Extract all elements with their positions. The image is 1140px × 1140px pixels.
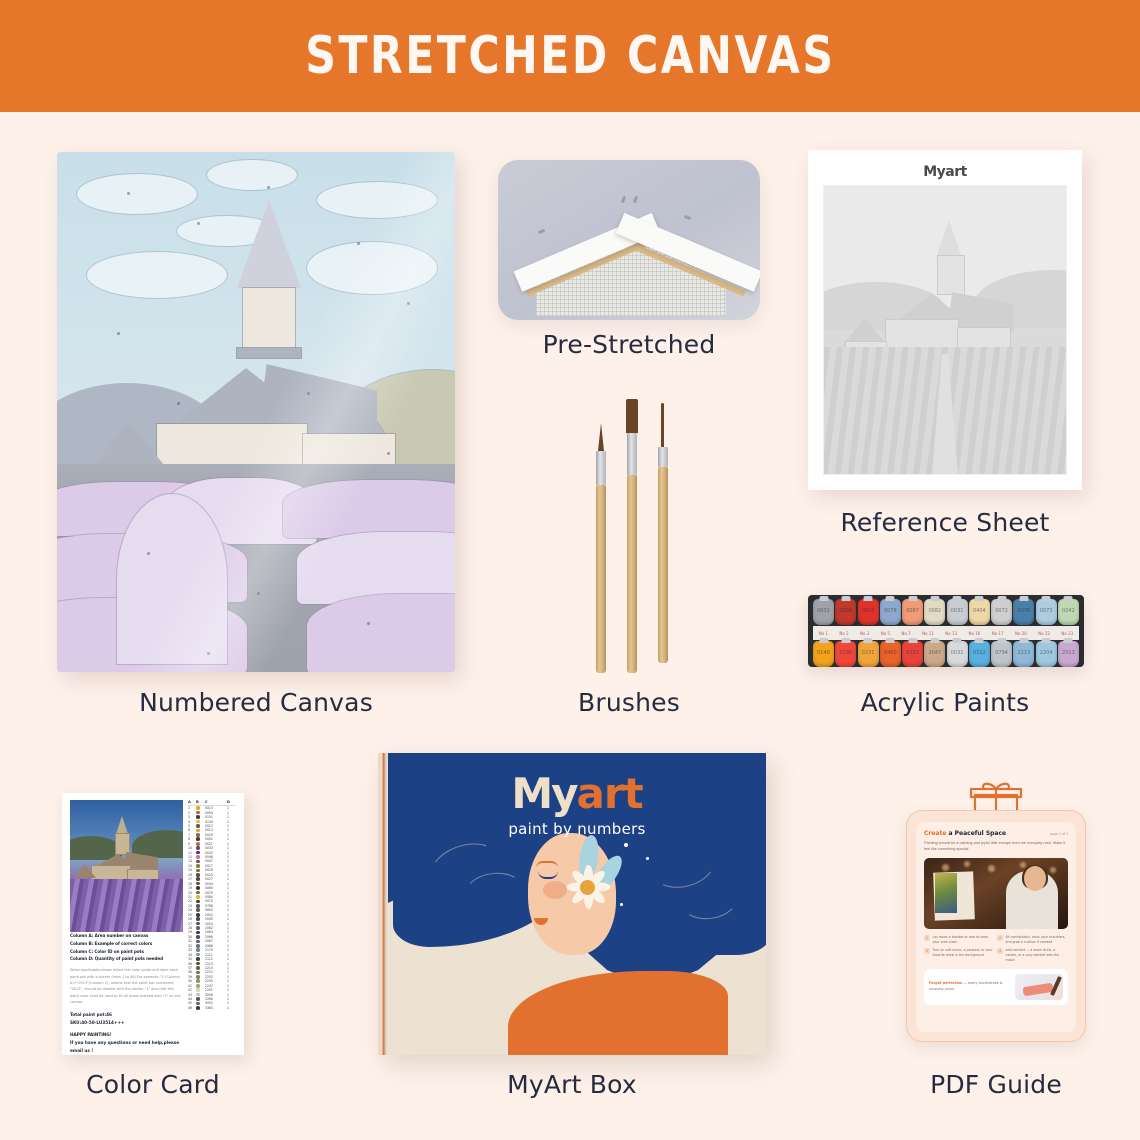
cell-area-number: 23: [188, 904, 196, 908]
brush-bristles: [626, 399, 638, 433]
help-email-text: If you have any questions or need help,p…: [70, 1039, 183, 1055]
cell-color-swatch: [196, 931, 205, 935]
pdf-photo: [924, 858, 1068, 929]
paint-pot-id: 2013: [1058, 650, 1079, 656]
cell-quantity: 1: [227, 930, 236, 934]
paint-pot-id: 0023: [858, 608, 879, 614]
cell-color-id: 3052: [205, 1001, 227, 1005]
paint-pot-id: 0460: [880, 650, 901, 656]
cell-area-number: 38: [188, 970, 196, 974]
reference-sheet-image: Myart: [808, 150, 1082, 490]
pdf-tip-item: 3Turn on soft music, a podcast, or your …: [924, 948, 994, 963]
paint-pot: 0034: [835, 599, 856, 625]
color-card-paragraph: When applicable,please follow this color…: [70, 967, 183, 1006]
cell-quantity: 1: [227, 913, 236, 917]
caption-color-card: Color Card: [40, 1070, 266, 1099]
total-paint-pots: Total paint pot:46: [70, 1011, 183, 1019]
box-spine-edge: [378, 753, 388, 1055]
cell-color-swatch: [196, 966, 205, 970]
cell-quantity: 1: [227, 962, 236, 966]
cell-quantity: 1: [227, 828, 236, 832]
color-card-legend: Column A: Area number on canvas Column B…: [70, 932, 183, 963]
paint-row-bottom: 0140019002310460015220470031031207942113…: [813, 641, 1079, 667]
myart-logo-text: Myart: [824, 164, 1066, 180]
cell-quantity: 1: [227, 846, 236, 850]
cell-color-id: 2062: [205, 926, 227, 930]
cell-color-swatch: [196, 806, 205, 810]
paint-pot-id: 0794: [991, 650, 1012, 656]
sparkle-dot-icon: [646, 857, 649, 860]
cell-quantity: 1: [227, 815, 236, 819]
cell-area-number: 3: [188, 815, 196, 819]
table-body: 1001312009413013114013415001216001317002…: [188, 806, 236, 1010]
paint-pot: 0076: [1013, 599, 1034, 625]
cell-color-swatch: [196, 935, 205, 939]
paint-pot: 0794: [991, 641, 1012, 667]
cell-color-swatch: [196, 962, 205, 966]
bell-tower: [243, 288, 295, 354]
cell-area-number: 33: [188, 948, 196, 952]
cell-quantity: 1: [227, 895, 236, 899]
cell-color-id: 0800: [205, 908, 227, 912]
cell-color-swatch: [196, 948, 205, 952]
daisy-flower-icon: [566, 865, 610, 909]
brush-ferrule: [596, 451, 606, 485]
cell-color-id: 2252: [205, 975, 227, 979]
color-card-image: Column A: Area number on canvas Column B…: [62, 793, 244, 1055]
cell-color-swatch: [196, 1002, 205, 1006]
cell-area-number: 20: [188, 891, 196, 895]
paint-pot: 0031: [947, 641, 968, 667]
cell-quantity: 1: [227, 939, 236, 943]
staple-icon: [633, 196, 638, 204]
cell-color-swatch: [196, 984, 205, 988]
paint-number-label: No 23: [1061, 631, 1073, 636]
pdf-note-card: Forget perfection — every brushstroke is…: [924, 969, 1068, 1005]
painting-on-easel: [935, 873, 957, 913]
page-title: STRETCHED CANVAS: [305, 26, 835, 86]
cell-quantity: 1: [227, 926, 236, 930]
cell-area-number: 25: [188, 913, 196, 917]
product-box: Myart paint by numbers: [378, 753, 766, 1055]
reference-grayscale-art: [824, 186, 1066, 474]
brush-handle: [658, 467, 668, 663]
cell-color-id: 0134: [205, 820, 227, 824]
cell-color-id: 2251: [205, 988, 227, 992]
cell-color-swatch: [196, 900, 205, 904]
cell-color-swatch: [196, 953, 205, 957]
lavender-row: [307, 594, 455, 672]
cell-color-swatch: [196, 944, 205, 948]
lavender-field: [57, 464, 455, 672]
caption-acrylic-paints: Acrylic Paints: [800, 688, 1090, 717]
happy-painting-text: HAPPY PAINTING!: [70, 1031, 183, 1039]
cell-color-id: 0033: [205, 846, 227, 850]
cell-area-number: 1: [188, 806, 196, 810]
cell-color-id: 2112: [205, 957, 227, 961]
paint-pot: 0231: [858, 641, 879, 667]
eyebrow-shape: [536, 861, 558, 868]
paint-pot-id: 2113: [1013, 650, 1034, 656]
cell-area-number: 32: [188, 944, 196, 948]
cell-quantity: 1: [227, 984, 236, 988]
cell-color-id: 0007: [205, 859, 227, 863]
cell-color-id: 0131: [205, 815, 227, 819]
cell-color-swatch: [196, 869, 205, 873]
cheek-blush: [543, 881, 567, 899]
cell-area-number: 12: [188, 855, 196, 859]
legend-line: Column B: Example of correct colors: [70, 940, 183, 948]
cell-color-swatch: [196, 1006, 205, 1010]
cell-quantity: 1: [227, 811, 236, 815]
cell-area-number: 36: [188, 962, 196, 966]
cell-color-id: 0021: [205, 842, 227, 846]
paint-pot: 0460: [880, 641, 901, 667]
paint-pot-id: 0140: [813, 650, 834, 656]
cloud-shape: [307, 242, 437, 294]
pre-stretched-image: [498, 160, 760, 320]
canvas-artwork: [57, 152, 455, 672]
cell-area-number: 43: [188, 993, 196, 997]
cloud-shape: [77, 174, 197, 214]
cell-color-id: 0017: [205, 864, 227, 868]
cell-color-id: 2113: [205, 962, 227, 966]
cell-area-number: 8: [188, 837, 196, 841]
cell-color-swatch: [196, 895, 205, 899]
cell-color-id: 0046: [205, 855, 227, 859]
tip-text: Sit comfortably, relax your shoulders, a…: [1006, 935, 1068, 945]
tip-number-icon: 2: [997, 935, 1003, 941]
paint-pot-id: 0078: [880, 608, 901, 614]
cell-color-swatch: [196, 860, 205, 864]
paint-pot-id: 2204: [1036, 650, 1057, 656]
cell-area-number: 24: [188, 908, 196, 912]
paint-pot: 0152: [902, 641, 923, 667]
paint-number-label: No 1: [819, 631, 828, 636]
legend-line: Column A: Area number on canvas: [70, 932, 183, 940]
paint-pot: 0242: [1058, 599, 1079, 625]
cc-lavender-field: [70, 879, 183, 932]
cell-color-swatch: [196, 837, 205, 841]
cc-tower: [116, 834, 129, 854]
pdf-tip-item: 2Sit comfortably, relax your shoulders, …: [997, 935, 1067, 945]
cell-area-number: 15: [188, 868, 196, 872]
cell-color-id: 2002: [205, 913, 227, 917]
cell-area-number: 37: [188, 966, 196, 970]
cell-area-number: 35: [188, 957, 196, 961]
brushes-image: [588, 385, 680, 673]
tray-label-text-top: No 1No 2No 3No 5No 7No 11No 13No 16No 17…: [813, 631, 1079, 636]
cell-color-swatch: [196, 877, 205, 881]
cell-color-id: 0060: [205, 886, 227, 890]
brush-round: [596, 385, 606, 673]
paint-pot: 0087: [902, 599, 923, 625]
cell-area-number: 21: [188, 895, 196, 899]
cell-color-id: 2045: [205, 917, 227, 921]
cell-quantity: 1: [227, 957, 236, 961]
cell-color-swatch: [196, 873, 205, 877]
tip-text: Add comfort — a warm drink, a candle, or…: [1006, 948, 1068, 963]
paint-pot-id: 0032: [813, 608, 834, 614]
paint-number-label: No 5: [881, 631, 890, 636]
lavender-row: [117, 494, 227, 664]
cell-quantity: 1: [227, 851, 236, 855]
paint-number-label: No 16: [969, 631, 981, 636]
paint-pot: 0023: [858, 599, 879, 625]
cell-color-id: 0013: [205, 828, 227, 832]
col-header-a: A: [188, 800, 196, 804]
brush-ferrule: [627, 433, 637, 475]
cell-color-swatch: [196, 904, 205, 908]
paint-pot: 0404: [969, 599, 990, 625]
paint-pot: 0032: [813, 599, 834, 625]
paint-pot: 2047: [924, 641, 945, 667]
cell-area-number: 31: [188, 939, 196, 943]
brush-handle: [627, 475, 637, 673]
pre-stretched-photo: [498, 160, 760, 320]
cell-area-number: 6: [188, 828, 196, 832]
paint-number-label: No 2: [839, 631, 848, 636]
cell-color-swatch: [196, 908, 205, 912]
cell-color-id: 0001: [205, 837, 227, 841]
person-head: [1024, 866, 1046, 891]
sparkle-dot-icon: [620, 903, 623, 906]
cell-color-swatch: [196, 882, 205, 886]
cell-area-number: 29: [188, 930, 196, 934]
paint-pot-id: 0082: [924, 608, 945, 614]
col-header-b: B: [196, 800, 205, 804]
cell-color-id: 0075: [205, 891, 227, 895]
pdf-title-row: Create a Peaceful Space page 1 of 1: [924, 830, 1068, 837]
pdf-note-accent: Forget perfection: [929, 981, 962, 985]
cell-quantity: 1: [227, 1006, 236, 1010]
cell-color-swatch: [196, 993, 205, 997]
color-card-left-column: Column A: Area number on canvas Column B…: [70, 800, 183, 1048]
cell-color-id: 0788: [205, 904, 227, 908]
pdf-page-inner: Create a Peaceful Space page 1 of 1 Pain…: [916, 822, 1076, 1032]
cell-area-number: 17: [188, 877, 196, 881]
paint-pot: 2204: [1036, 641, 1057, 667]
cell-quantity: 1: [227, 988, 236, 992]
cell-color-id: 0094: [205, 811, 227, 815]
cell-quantity: 1: [227, 891, 236, 895]
paint-pot-id: 0231: [858, 650, 879, 656]
paint-number-label: No 7: [901, 631, 910, 636]
cell-color-id: 3363: [205, 1006, 227, 1010]
paint-pot-id: 0190: [835, 650, 856, 656]
cell-quantity: 1: [227, 886, 236, 890]
cell-color-swatch: [196, 833, 205, 837]
cell-quantity: 1: [227, 908, 236, 912]
cell-color-swatch: [196, 975, 205, 979]
pdf-title-accent: Create: [924, 830, 946, 837]
grayscale-tower: [938, 256, 964, 294]
brush-flat: [627, 385, 637, 673]
cell-quantity: 1: [227, 868, 236, 872]
cell-color-id: 0029: [205, 833, 227, 837]
cell-color-id: 0018: [205, 868, 227, 872]
cell-color-id: 3006: [205, 993, 227, 997]
paint-row-top: 0032003400230078008700820031040400720076…: [813, 599, 1079, 625]
cell-color-id: 2247: [205, 984, 227, 988]
pdf-guide-image: Create a Peaceful Space page 1 of 1 Pain…: [906, 810, 1086, 1042]
myart-box-image: Myart paint by numbers: [378, 753, 766, 1055]
paint-pot-id: 0312: [969, 650, 990, 656]
brushstroke-thumbnail: [1015, 974, 1063, 1000]
cell-area-number: 26: [188, 917, 196, 921]
cell-color-id: 2215: [205, 966, 227, 970]
logo-art-text: art: [577, 769, 643, 818]
staple-icon: [684, 215, 692, 220]
cell-quantity: 1: [227, 970, 236, 974]
cell-quantity: 1: [227, 966, 236, 970]
paint-pot: 0082: [924, 599, 945, 625]
cell-color-swatch: [196, 971, 205, 975]
cell-quantity: 1: [227, 855, 236, 859]
paint-pot-id: 2047: [924, 650, 945, 656]
cell-area-number: 13: [188, 859, 196, 863]
cell-color-id: 0044: [205, 882, 227, 886]
cell-color-swatch: [196, 864, 205, 868]
cell-color-swatch: [196, 811, 205, 815]
cell-area-number: 9: [188, 842, 196, 846]
cell-color-id: 2255: [205, 979, 227, 983]
numbered-canvas-image: [57, 152, 455, 672]
tip-number-icon: 1: [924, 935, 930, 941]
cell-quantity: 1: [227, 904, 236, 908]
brush-handle: [596, 485, 606, 673]
cell-quantity: 1: [227, 873, 236, 877]
cloud-shape: [317, 182, 437, 218]
brush-bristles: [598, 423, 604, 451]
cell-color-id: 2054: [205, 922, 227, 926]
cell-color-swatch: [196, 988, 205, 992]
paint-pot: 2013: [1058, 641, 1079, 667]
cell-color-swatch: [196, 829, 205, 833]
pdf-guide-card: Create a Peaceful Space page 1 of 1 Pain…: [906, 810, 1086, 1042]
cell-quantity: 1: [227, 864, 236, 868]
cell-quantity: 1: [227, 824, 236, 828]
lavender-row: [283, 480, 455, 538]
cell-color-id: 0025: [205, 873, 227, 877]
pdf-subtitle: Painting should be a calming and joyful …: [924, 840, 1068, 853]
paint-tray: 0032003400230078008700820031040400720076…: [808, 595, 1084, 667]
cloud-shape: [207, 160, 297, 190]
cell-color-id: 2066: [205, 935, 227, 939]
paint-pot: 0072: [991, 599, 1012, 625]
tip-text: Lay down a blanket or mat to keep your a…: [933, 935, 995, 945]
cell-color-swatch: [196, 815, 205, 819]
cell-area-number: 11: [188, 851, 196, 855]
cell-area-number: 45: [188, 1001, 196, 1005]
tower-cornice: [237, 348, 301, 358]
color-card-paper: Column A: Area number on canvas Column B…: [62, 793, 244, 1055]
paint-number-label: No 17: [992, 631, 1004, 636]
sparkle-dot-icon: [624, 843, 628, 847]
cell-quantity: 1: [227, 820, 236, 824]
brush-ferrule: [658, 447, 668, 467]
paint-pot: 0140: [813, 641, 834, 667]
tip-number-icon: 3: [924, 948, 930, 954]
cell-color-id: 2170: [205, 948, 227, 952]
caption-brushes: Brushes: [470, 688, 788, 717]
paint-pot-id: 0031: [947, 608, 968, 614]
pdf-tips-list: 1Lay down a blanket or mat to keep your …: [924, 935, 1068, 963]
color-card-artwork: [70, 800, 183, 932]
legend-line: Column D: Quantity of paint pots needed: [70, 955, 183, 963]
color-card-row: 4633631: [188, 1006, 236, 1010]
cell-quantity: 1: [227, 993, 236, 997]
acrylic-paints-image: 0032003400230078008700820031040400720076…: [808, 595, 1084, 667]
cell-area-number: 28: [188, 926, 196, 930]
cell-color-id: 2212: [205, 970, 227, 974]
cell-color-swatch: [196, 922, 205, 926]
cell-quantity: 1: [227, 917, 236, 921]
cell-quantity: 1: [227, 935, 236, 939]
cell-area-number: 16: [188, 873, 196, 877]
paint-pot: 0312: [969, 641, 990, 667]
cell-color-id: 0032: [205, 851, 227, 855]
cell-color-swatch: [196, 891, 205, 895]
cell-quantity: 1: [227, 944, 236, 948]
cell-area-number: 39: [188, 975, 196, 979]
cell-color-swatch: [196, 926, 205, 930]
cell-color-id: 0084: [205, 895, 227, 899]
box-subtitle: paint by numbers: [388, 820, 766, 838]
page-header: STRETCHED CANVAS: [0, 0, 1140, 112]
paint-pot: 0190: [835, 641, 856, 667]
cell-area-number: 44: [188, 997, 196, 1001]
cell-color-swatch: [196, 855, 205, 859]
cell-color-swatch: [196, 997, 205, 1001]
cloud-shape: [87, 252, 227, 298]
paint-pot: 0031: [947, 599, 968, 625]
cell-area-number: 40: [188, 979, 196, 983]
staple-icon: [621, 196, 626, 204]
tray-label-strip: No 1No 2No 3No 5No 7No 11No 13No 16No 17…: [813, 626, 1079, 640]
cell-color-id: 2063: [205, 930, 227, 934]
paint-pot-id: 0404: [969, 608, 990, 614]
paint-number-label: No 11: [922, 631, 934, 636]
cell-quantity: 1: [227, 833, 236, 837]
col-header-d: D: [227, 800, 236, 804]
box-front-face: Myart paint by numbers: [388, 753, 766, 1055]
cell-color-id: 0075: [205, 899, 227, 903]
paint-pot: 0073: [1036, 599, 1057, 625]
paint-pot-id: 0031: [947, 650, 968, 656]
pdf-page-marker: page 1 of 1: [1050, 832, 1068, 836]
legend-line: Column C: Color ID on paint pots: [70, 948, 183, 956]
cell-color-swatch: [196, 820, 205, 824]
paint-pot-id: 0076: [1013, 608, 1034, 614]
cell-area-number: 46: [188, 1006, 196, 1010]
paint-pot: 0078: [880, 599, 901, 625]
pdf-note-text: Forget perfection — every brushstroke is…: [929, 981, 1010, 992]
cell-quantity: 1: [227, 899, 236, 903]
cell-area-number: 19: [188, 886, 196, 890]
sku-text: SKU:40-50-LU3514+++: [70, 1019, 183, 1027]
cell-color-swatch: [196, 851, 205, 855]
paint-pot-id: 0034: [835, 608, 856, 614]
cell-color-swatch: [196, 979, 205, 983]
paint-number-label: No 22: [1038, 631, 1050, 636]
cell-area-number: 7: [188, 833, 196, 837]
cell-color-swatch: [196, 846, 205, 850]
caption-pdf-guide: PDF Guide: [896, 1070, 1096, 1099]
cell-area-number: 4: [188, 820, 196, 824]
cell-color-id: 0027: [205, 877, 227, 881]
cell-color-swatch: [196, 940, 205, 944]
